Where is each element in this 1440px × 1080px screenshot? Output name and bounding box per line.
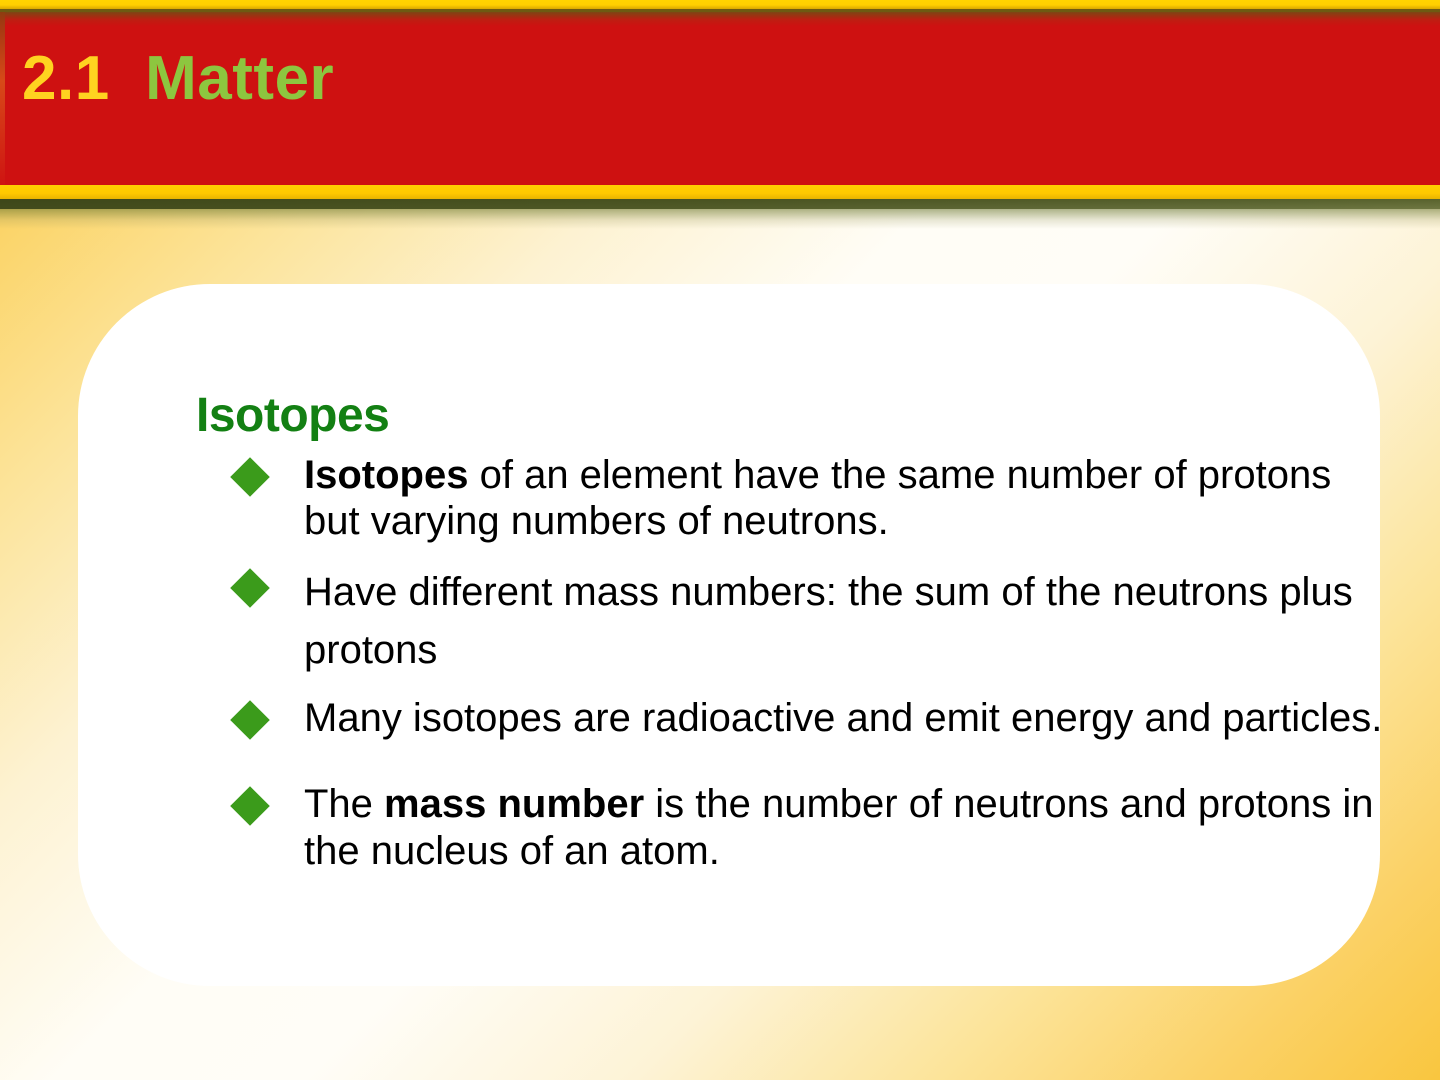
header-bottom-gold-border bbox=[0, 185, 1440, 199]
list-item: Many isotopes are radioactive and emit e… bbox=[234, 695, 1394, 741]
list-item-text-bold: Isotopes bbox=[304, 453, 468, 497]
list-item: Isotopes of an element have the same num… bbox=[234, 452, 1394, 545]
card-heading: Isotopes bbox=[196, 388, 389, 443]
list-item-text: Have different mass numbers: the sum of … bbox=[304, 570, 1353, 672]
list-item: The mass number is the number of neutron… bbox=[234, 781, 1394, 874]
section-number: 2.1 bbox=[22, 44, 110, 113]
list-item-text: Many isotopes are radioactive and emit e… bbox=[304, 696, 1382, 740]
header-left-edge-highlight bbox=[0, 12, 5, 185]
header-drop-shadow-core bbox=[0, 199, 1440, 209]
list-item-text: The mass number is the number of neutron… bbox=[304, 782, 1374, 872]
list-item: Have different mass numbers: the sum of … bbox=[234, 563, 1394, 679]
section-title: Matter bbox=[145, 44, 334, 113]
bullet-gap bbox=[234, 679, 1394, 695]
diamond-bullet-icon bbox=[230, 700, 270, 740]
slide: 2.1 Matter Isotopes Isotopes of an eleme… bbox=[0, 0, 1440, 1080]
diamond-bullet-icon bbox=[230, 786, 270, 826]
header-top-shade bbox=[0, 12, 1440, 26]
bullet-gap bbox=[234, 545, 1394, 563]
bullet-gap bbox=[234, 741, 1394, 781]
slide-title: 2.1 Matter bbox=[22, 48, 334, 110]
diamond-bullet-icon bbox=[230, 568, 270, 608]
list-item-text-bold: mass number bbox=[384, 782, 644, 826]
diamond-bullet-icon bbox=[230, 457, 270, 497]
title-spacer bbox=[110, 44, 145, 113]
header-top-gold-border bbox=[0, 0, 1440, 9]
list-item-text: Isotopes of an element have the same num… bbox=[304, 453, 1331, 543]
list-item-text-lead: The bbox=[304, 782, 384, 826]
bullet-list: Isotopes of an element have the same num… bbox=[234, 452, 1394, 874]
slide-header-bar: 2.1 Matter bbox=[0, 0, 1440, 200]
